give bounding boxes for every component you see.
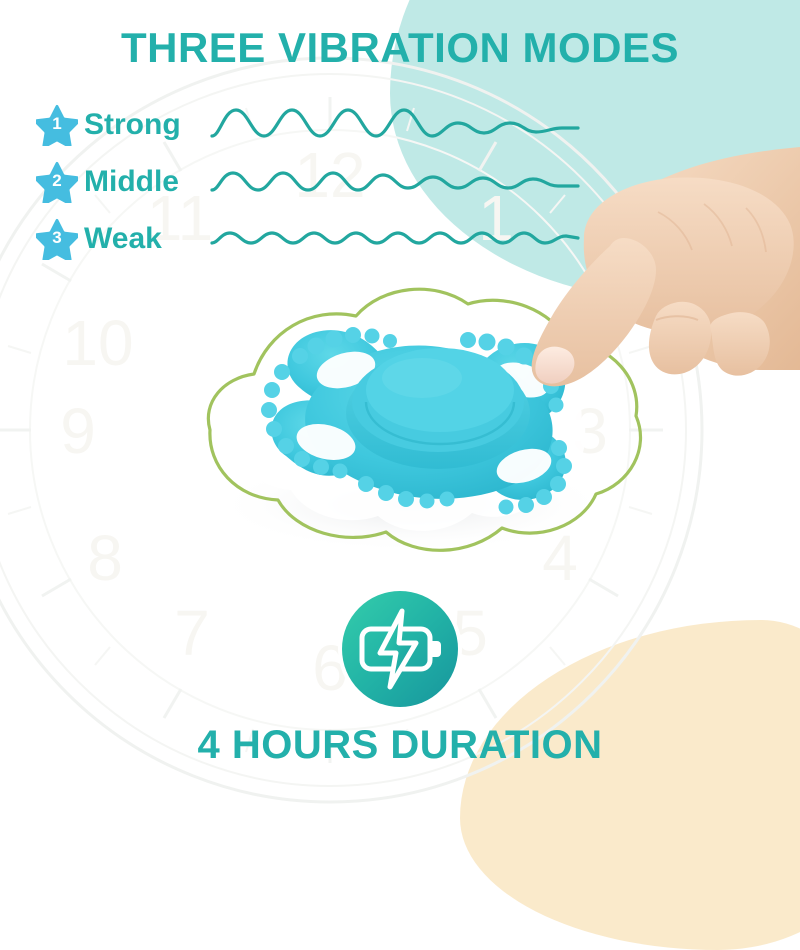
hand-icon <box>460 120 800 450</box>
svg-text:9: 9 <box>60 395 96 467</box>
svg-text:10: 10 <box>62 307 133 379</box>
hand-pressing-button-image <box>460 120 800 450</box>
mode-label-weak: Weak <box>84 222 208 256</box>
star-badge-number: 3 <box>36 218 78 260</box>
svg-text:7: 7 <box>174 597 210 669</box>
star-badge-number: 2 <box>36 161 78 203</box>
mode-label-middle: Middle <box>84 165 208 199</box>
svg-text:8: 8 <box>87 522 123 594</box>
mode-label-strong: Strong <box>84 108 208 142</box>
footer-caption: 4 HOURS DURATION <box>0 723 800 768</box>
battery-charging-icon <box>336 585 464 713</box>
star-badge-1: 1 <box>36 104 78 146</box>
cream-blob-shape <box>460 620 800 950</box>
star-badge-2: 2 <box>36 161 78 203</box>
infographic-canvas: 12 1 2 3 4 5 6 7 8 9 10 11 THREE VIBRATI… <box>0 0 800 800</box>
star-badge-number: 1 <box>36 104 78 146</box>
battery-badge <box>336 585 464 713</box>
star-badge-3: 3 <box>36 218 78 260</box>
page-title: THREE VIBRATION MODES <box>0 24 800 72</box>
